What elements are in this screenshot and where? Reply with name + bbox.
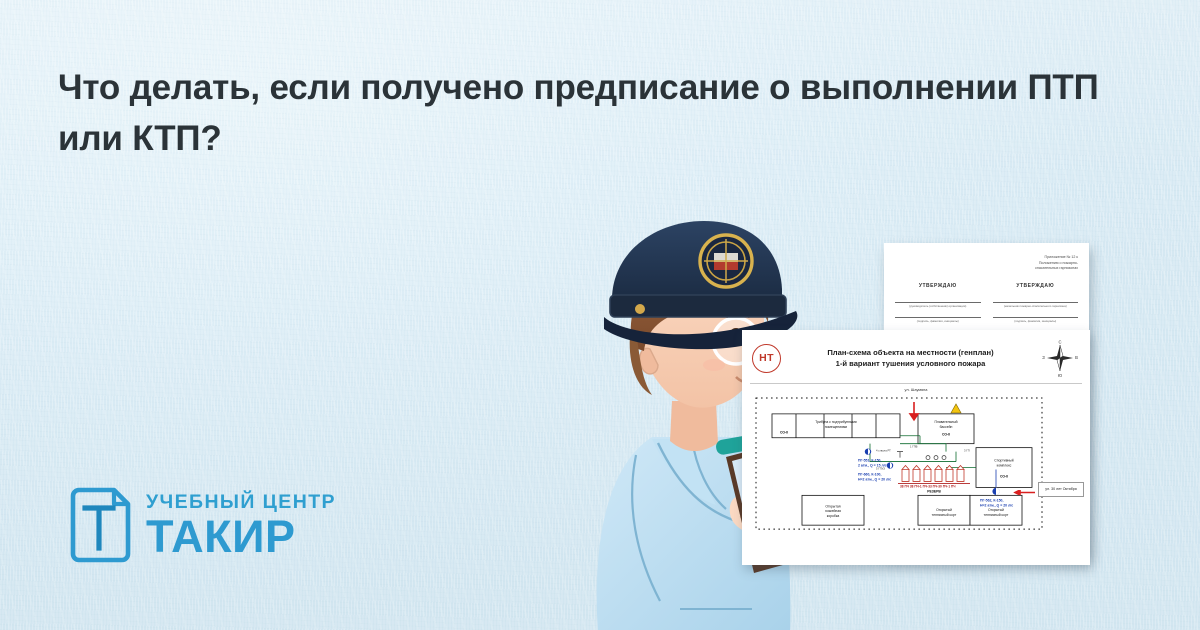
hydrant-label: ПГ-562, К-150, [980,498,1003,502]
building-code: СО-II [780,431,788,435]
approval-caption: (руководитель (собственник) организации) [895,303,981,311]
approval-block-left: УТВЕРЖДАЮ (руководитель (собственник) ор… [895,283,981,336]
hydrant-params: Н=2 атм., Q = 20 л/с [858,477,891,481]
svg-text:Ю: Ю [1058,373,1063,378]
svg-text:В: В [1075,355,1078,360]
building-label: помещениями [825,425,847,429]
hydrant-params: Н=2 атм., Q = 20 л/с [980,503,1013,507]
misc-label: 3 ГП [964,449,970,453]
hydrant-label: ПГ-660, К-100, [858,472,881,476]
signature-line [895,296,981,303]
approval-caption: (начальник пожарно-спасательного гарнизо… [993,303,1079,311]
building-label: бассейн [940,425,953,429]
plan-title: План-схема объекта на местности (генплан… [790,347,1031,369]
warning-triangle-icon [951,404,961,413]
plan-title-line-1: План-схема объекта на местности (генплан… [790,347,1031,358]
neck [670,401,718,451]
logo-subtitle: УЧЕБНЫЙ ЦЕНТР [146,493,336,513]
signature-line [993,296,1079,303]
fire-origin-marker [910,402,918,420]
building-label: теннисный корт [932,513,957,517]
misc-label: 5 ГПУЗ [876,467,885,471]
plan-drawing-area: Трибуна с подтрибунными помещениями СО-I… [750,392,1082,551]
building-label: комплекс [997,464,1012,468]
document-site-plan[interactable]: НТ План-схема объекта на местности (генп… [742,330,1090,565]
building-code: СО-II [1000,474,1008,478]
approval-block-row: УТВЕРЖДАЮ (руководитель (собственник) ор… [895,283,1078,336]
fire-vehicles-row: 38 ПЧ 38 ПЧ-1 ПЧ-33 ПЧ-30 ПЧ-1 ПЧ РЕЗЕРВ [898,466,970,494]
direction-arrow-icon [1009,490,1035,495]
approval-title: УТВЕРЖДАЮ [993,283,1079,289]
signature-line [993,311,1079,318]
building-label: Открытый [988,508,1004,512]
approval-caption: (подпись, фамилия, инициалы) [895,318,981,326]
svg-text:С: С [1058,340,1061,345]
annex-corner-note: Приложение № 12 к Положению о пожарно- с… [895,255,1078,272]
equipment-glyphs [897,452,946,460]
approval-title: УТВЕРЖДАЮ [895,283,981,289]
compass-rose-icon: С В Ю З [1040,338,1080,378]
misc-label: 1 ГПВ [910,445,918,449]
logo-wordmark: УЧЕБНЫЙ ЦЕНТР ТАКИР [146,493,336,560]
brand-logo[interactable]: УЧЕБНЫЙ ЦЕНТР ТАКИР [68,487,336,565]
logo-name: ТАКИР [146,515,336,559]
plan-schematic: Трибуна с подтрибунными помещениями СО-I… [750,392,1082,551]
building-label: Плавательный [934,420,957,424]
building-label: Открытая [825,504,840,508]
approval-block-right: УТВЕРЖДАЮ (начальник пожарно-спасательно… [993,283,1079,336]
signature-line [895,311,981,318]
nt-badge-icon: НТ [752,344,781,373]
misc-label: 4 ствола РТ [876,449,891,453]
building-label: Трибуна с подтрибунными [815,420,857,424]
page-title: Что делать, если получено предписание о … [58,62,1138,165]
building-code: СО-II [942,433,950,437]
cap-emblem-icon [700,235,752,287]
hydrant-label: ПГ-551, К-150, [858,459,881,463]
building-label: Спортивный [994,459,1014,463]
street-label-right: ул. 30 лет Октября [1038,482,1084,497]
vehicle-row-label: 38 ПЧ 38 ПЧ-1 ПЧ-33 ПЧ-30 ПЧ-1 ПЧ [900,484,956,488]
reserve-label: РЕЗЕРВ [927,489,941,493]
building-label: теннисный корт [984,513,1009,517]
svg-text:З: З [1042,355,1045,360]
plan-title-line-2: 1-й вариант тушения условного пожара [790,358,1031,369]
building-label: коробка [827,514,840,518]
building-label: хоккейная [825,509,841,513]
takir-book-icon [68,487,132,565]
approval-caption: (подпись, фамилия, инициалы) [993,318,1079,326]
plan-header: НТ План-схема объекта на местности (генп… [742,330,1090,383]
building-tennis-courts [918,495,1022,525]
building-label: Открытый [936,508,952,512]
